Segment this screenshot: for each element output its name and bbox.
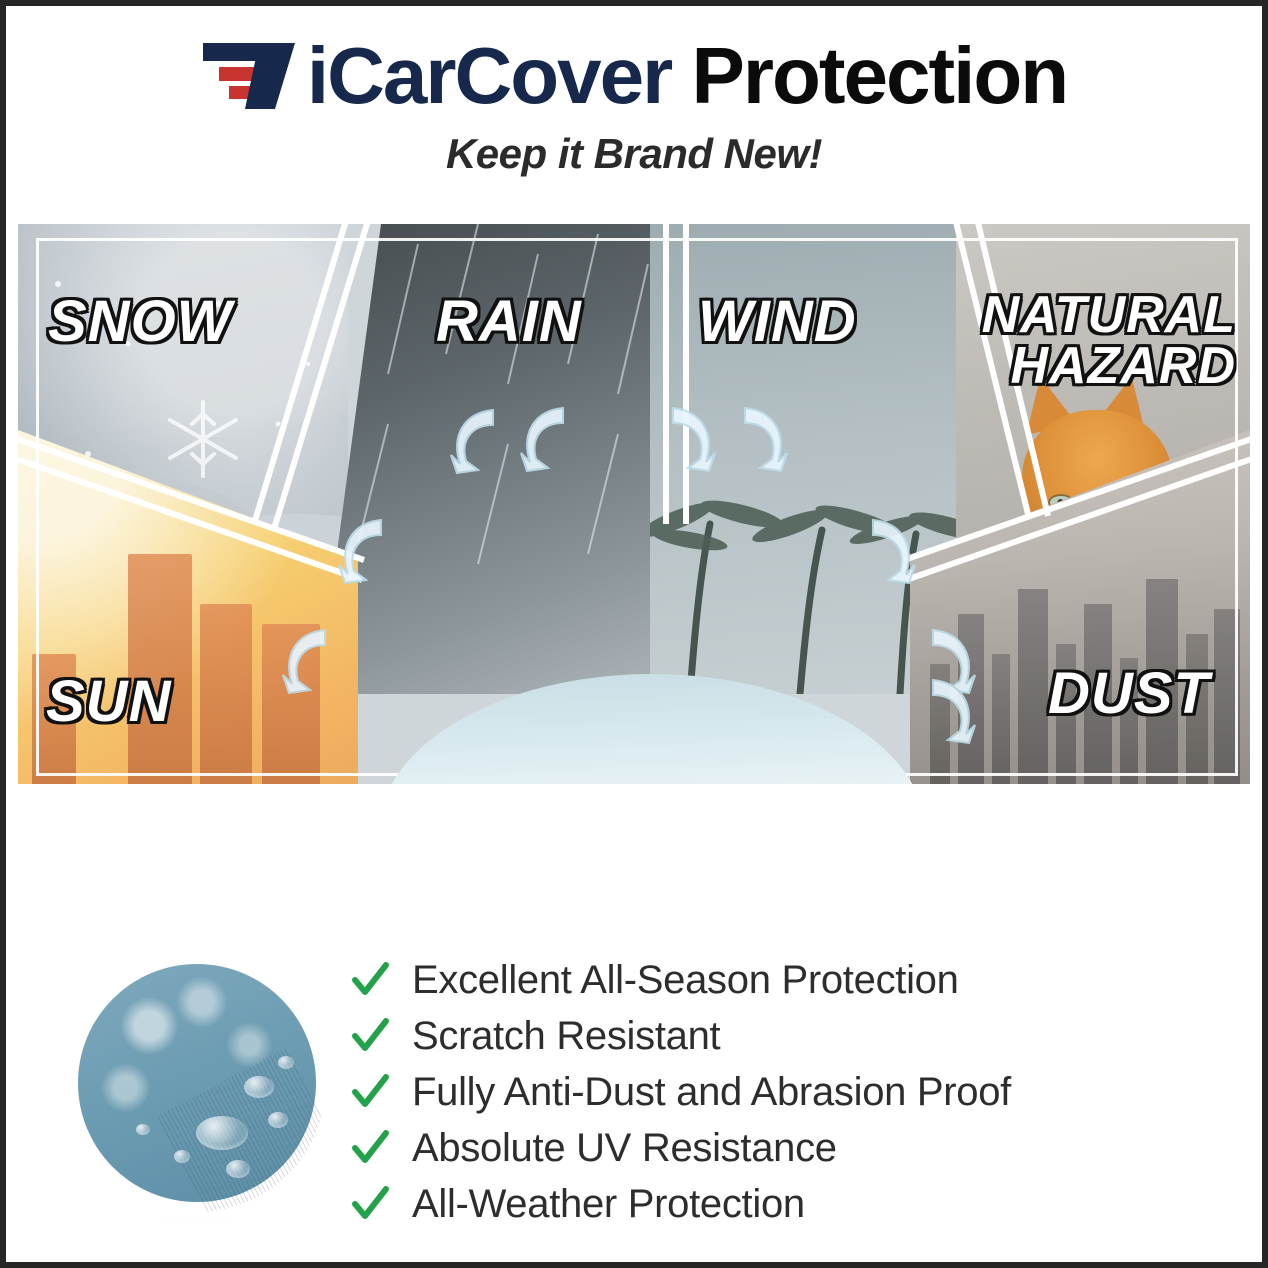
- city-tower: [958, 614, 984, 784]
- green-check-icon: [350, 1016, 390, 1056]
- covered-car-image: [348, 664, 956, 784]
- water-bead-fabric-closeup: [68, 954, 326, 1212]
- feature-label: Fully Anti-Dust and Abrasion Proof: [412, 1070, 1011, 1115]
- building: [200, 604, 252, 784]
- green-check-icon: [350, 1072, 390, 1112]
- product-infographic: iCarCover Protection Keep it Brand New!: [0, 0, 1268, 1268]
- icarcover-wing-logo-icon: [201, 39, 297, 113]
- feature-item: Excellent All-Season Protection: [350, 952, 1230, 1008]
- feature-item: Fully Anti-Dust and Abrasion Proof: [350, 1064, 1230, 1120]
- city-tower: [1214, 609, 1240, 784]
- water-drop: [196, 1116, 248, 1150]
- header: iCarCover Protection Keep it Brand New!: [6, 28, 1262, 178]
- label-wind: WIND: [698, 294, 857, 351]
- title-suffix: Protection: [692, 31, 1068, 120]
- water-drop: [268, 1112, 288, 1128]
- label-natural-hazard: NATURAL HAZARD: [956, 290, 1236, 392]
- label-dust: DUST: [1048, 666, 1210, 723]
- feature-label: Absolute UV Resistance: [412, 1126, 837, 1171]
- feature-label: All-Weather Protection: [412, 1182, 805, 1227]
- feature-item: Scratch Resistant: [350, 1008, 1230, 1064]
- tagline: Keep it Brand New!: [6, 130, 1262, 178]
- green-check-icon: [350, 1184, 390, 1224]
- label-sun: SUN: [46, 674, 171, 731]
- feature-label: Excellent All-Season Protection: [412, 958, 959, 1003]
- water-drop: [174, 1150, 190, 1163]
- brand-i: i: [307, 31, 327, 120]
- water-drop: [278, 1056, 294, 1069]
- feature-label: Scratch Resistant: [412, 1014, 720, 1059]
- green-check-icon: [350, 960, 390, 1000]
- car-cover-top: [378, 674, 926, 784]
- page-title: iCarCover Protection: [307, 36, 1067, 116]
- feature-item: Absolute UV Resistance: [350, 1120, 1230, 1176]
- water-drop: [136, 1124, 150, 1135]
- feature-item: All-Weather Protection: [350, 1176, 1230, 1232]
- title-row: iCarCover Protection: [6, 28, 1262, 124]
- city-tower: [992, 654, 1010, 784]
- hazard-collage: SNOW RAIN WIND NATURAL HAZARD SUN DUST: [18, 224, 1250, 784]
- green-check-icon: [350, 1128, 390, 1168]
- water-drop: [244, 1076, 274, 1098]
- features-section: Excellent All-Season Protection Scratch …: [6, 936, 1262, 1266]
- brand-name: CarCover: [327, 31, 671, 120]
- building: [262, 624, 320, 784]
- feature-list: Excellent All-Season Protection Scratch …: [350, 952, 1230, 1232]
- fabric-swatch: [78, 964, 316, 1202]
- label-rain: RAIN: [436, 294, 582, 351]
- water-drop: [226, 1160, 250, 1178]
- label-snow: SNOW: [48, 294, 232, 351]
- city-tower: [1018, 589, 1048, 784]
